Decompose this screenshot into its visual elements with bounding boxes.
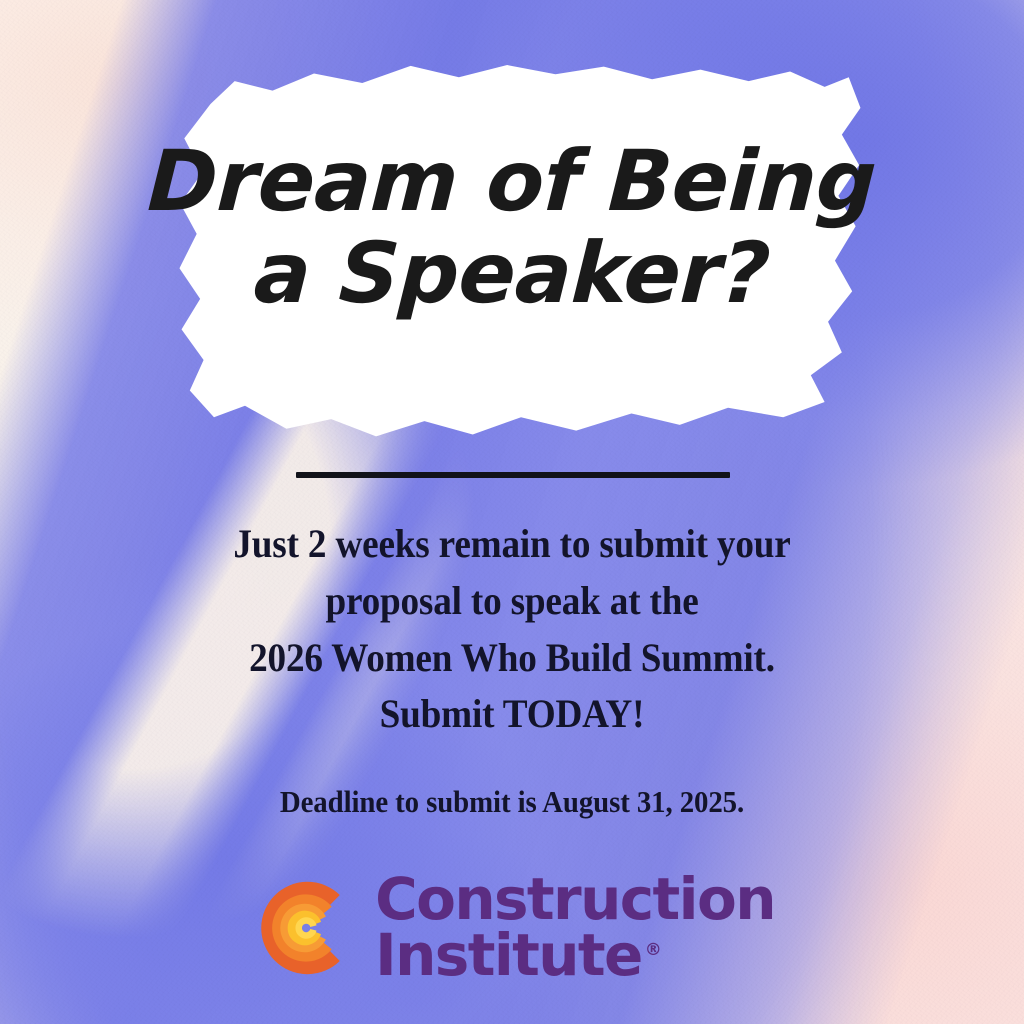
- spiral-c-logo-icon: [249, 872, 361, 984]
- headline-line-1: Dream of Being: [0, 140, 1024, 222]
- construction-institute-logo: Construction Institute ®: [0, 872, 1024, 984]
- logo-word-institute-group: Institute ®: [375, 928, 775, 984]
- body-line-3: 2026 Women Who Build Summit.: [36, 630, 988, 687]
- headline-line-2: a Speaker?: [0, 232, 1024, 314]
- body-line-4: Submit TODAY!: [36, 686, 988, 743]
- logo-word-construction: Construction: [375, 872, 775, 928]
- divider-rule: [296, 472, 730, 478]
- body-line-2: proposal to speak at the: [36, 573, 988, 630]
- body-line-1: Just 2 weeks remain to submit your: [36, 516, 988, 573]
- poster-content: Dream of Being a Speaker? Just 2 weeks r…: [0, 0, 1024, 1024]
- logo-wordmark: Construction Institute ®: [375, 872, 775, 983]
- body-copy: Just 2 weeks remain to submit your propo…: [36, 516, 988, 743]
- registered-trademark-icon: ®: [645, 942, 662, 959]
- deadline-text: Deadline to submit is August 31, 2025.: [36, 784, 988, 820]
- promotional-poster: Dream of Being a Speaker? Just 2 weeks r…: [0, 0, 1024, 1024]
- logo-word-institute: Institute: [375, 928, 642, 984]
- headline: Dream of Being a Speaker?: [0, 140, 1024, 315]
